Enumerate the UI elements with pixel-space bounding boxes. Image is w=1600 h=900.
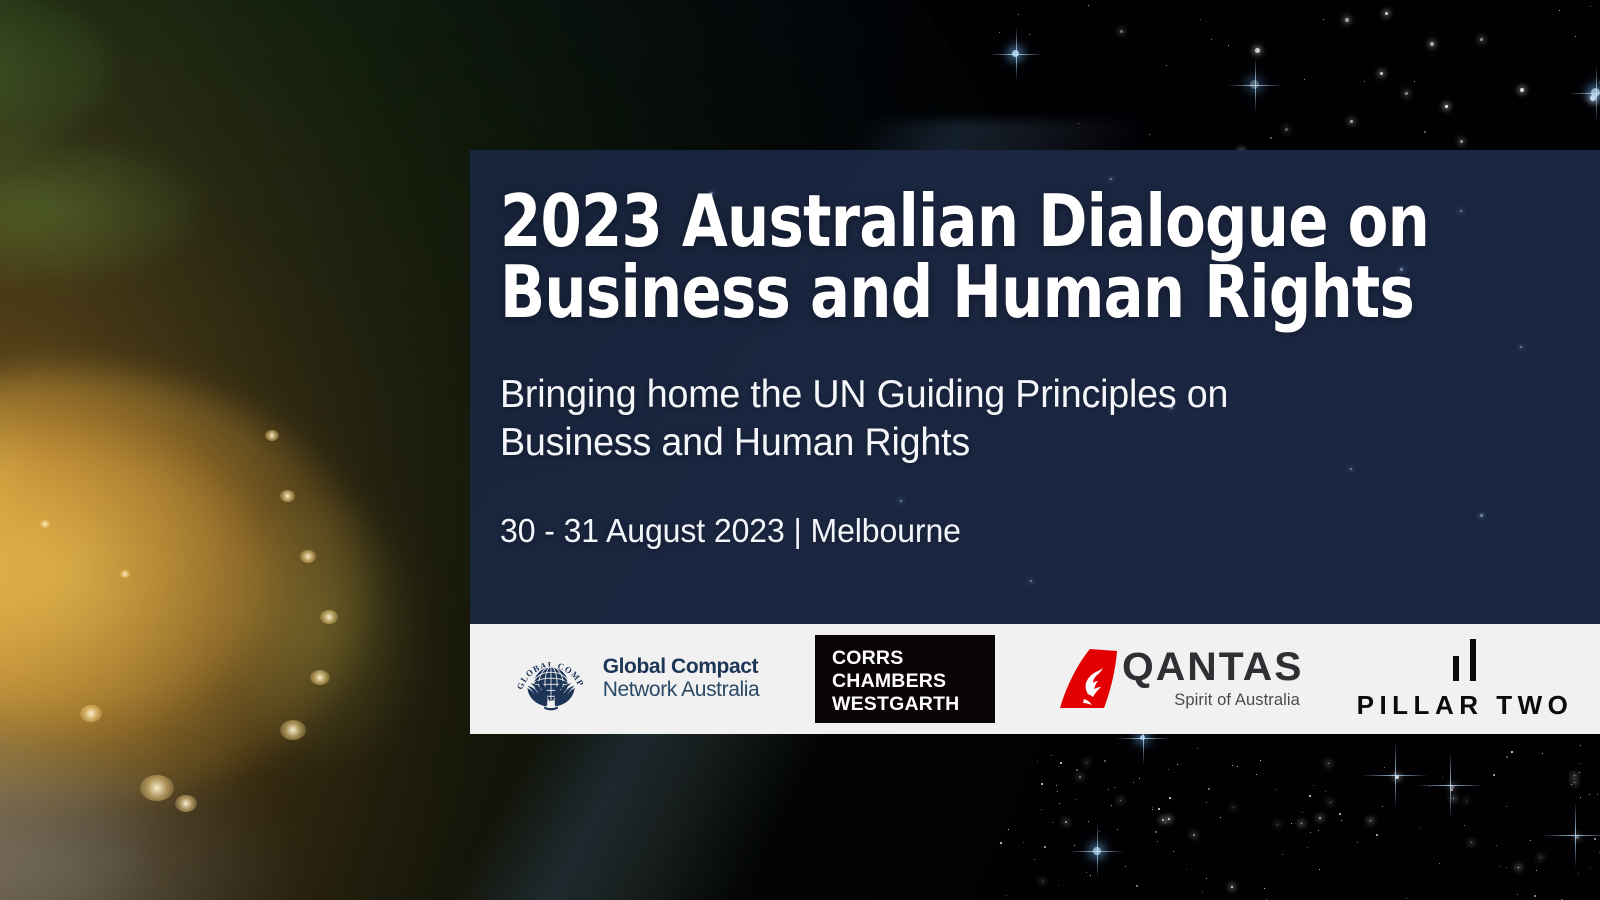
star xyxy=(25,897,27,899)
star xyxy=(1460,140,1463,143)
star xyxy=(1197,748,1198,749)
star xyxy=(67,840,68,841)
pillar-two-bars-icon xyxy=(1357,637,1574,681)
star-diffraction-spike xyxy=(1575,802,1576,868)
star-diffraction-spike xyxy=(1016,27,1017,81)
star xyxy=(850,871,851,872)
star xyxy=(156,154,158,156)
star xyxy=(1506,806,1507,807)
star xyxy=(900,41,901,42)
star xyxy=(1220,817,1221,818)
star xyxy=(1200,19,1201,20)
star xyxy=(1277,824,1278,825)
star xyxy=(1057,791,1058,792)
star xyxy=(292,795,293,796)
star xyxy=(556,755,557,756)
star xyxy=(1357,842,1358,843)
star xyxy=(334,776,335,777)
star xyxy=(874,750,875,751)
star xyxy=(1041,783,1043,785)
star xyxy=(1228,45,1229,46)
star xyxy=(1088,821,1089,822)
star xyxy=(1120,800,1121,801)
star xyxy=(1506,867,1507,868)
star xyxy=(1302,812,1303,813)
star xyxy=(999,32,1000,33)
star xyxy=(1590,868,1591,869)
star xyxy=(1319,817,1321,819)
star xyxy=(138,241,139,242)
star xyxy=(964,115,965,116)
star xyxy=(1429,786,1430,787)
pillar-two-wordmark: PILLAR TWO xyxy=(1357,690,1574,721)
star xyxy=(867,129,868,130)
star xyxy=(682,65,683,66)
star xyxy=(1559,10,1560,11)
qantas-wordmark: QANTAS xyxy=(1122,647,1303,687)
star xyxy=(275,232,277,234)
star xyxy=(1350,120,1353,123)
star xyxy=(1291,823,1292,824)
star xyxy=(1590,95,1596,101)
star xyxy=(1414,81,1415,82)
star xyxy=(1099,831,1100,832)
star xyxy=(530,114,531,115)
star xyxy=(1580,797,1581,798)
star xyxy=(1442,777,1443,778)
star xyxy=(1158,808,1160,810)
star xyxy=(121,46,122,47)
star xyxy=(1589,794,1590,795)
star xyxy=(838,43,839,44)
star xyxy=(1540,857,1541,858)
star xyxy=(1008,829,1009,830)
star xyxy=(1177,764,1178,765)
star xyxy=(648,819,649,820)
star xyxy=(607,60,608,61)
star xyxy=(517,886,518,887)
star xyxy=(1060,762,1062,764)
star xyxy=(1058,885,1059,886)
star xyxy=(1323,19,1324,20)
star xyxy=(1330,802,1331,803)
star xyxy=(1125,866,1126,867)
page-title: 2023 Australian Dialogue on Business and… xyxy=(500,186,1470,329)
event-info-panel: 2023 Australian Dialogue on Business and… xyxy=(470,150,1600,624)
star xyxy=(1074,845,1075,846)
star xyxy=(1250,80,1259,89)
star xyxy=(1018,14,1019,15)
star xyxy=(1012,50,1019,57)
star xyxy=(518,847,519,848)
star xyxy=(1534,895,1536,897)
sponsor-logo-corrs-chambers-westgarth[interactable]: CORRS CHAMBERS WESTGARTH xyxy=(780,624,1030,734)
star xyxy=(1166,65,1167,66)
star xyxy=(1364,81,1365,82)
star xyxy=(254,271,256,273)
star xyxy=(1051,755,1052,756)
star xyxy=(1029,34,1030,35)
star xyxy=(1093,847,1101,855)
un-global-compact-emblem-icon: UN GLOBAL COMPACT xyxy=(513,641,589,717)
star xyxy=(524,868,525,869)
star xyxy=(1264,888,1265,889)
star xyxy=(511,46,513,48)
sponsor-logo-pillar-two[interactable]: PILLAR TWO xyxy=(1330,624,1600,734)
star xyxy=(1114,787,1115,788)
sponsor-logo-bar: UN GLOBAL COMPACT xyxy=(470,624,1600,734)
star xyxy=(1341,820,1342,821)
star xyxy=(479,776,480,777)
star xyxy=(129,879,130,880)
star xyxy=(962,805,963,806)
star xyxy=(1155,831,1157,833)
star xyxy=(1034,859,1035,860)
star xyxy=(1518,867,1519,868)
star xyxy=(1117,829,1118,830)
star xyxy=(1006,895,1007,896)
star xyxy=(1496,845,1497,846)
star xyxy=(1136,885,1138,887)
star xyxy=(1439,863,1440,864)
star-diffraction-spike xyxy=(1596,66,1597,120)
star xyxy=(1282,854,1283,855)
star xyxy=(1173,851,1174,852)
star xyxy=(875,853,876,854)
star xyxy=(936,765,937,766)
star xyxy=(988,849,989,850)
star xyxy=(1285,128,1288,131)
star xyxy=(590,833,591,834)
star xyxy=(1232,765,1233,766)
star-diffraction-spike xyxy=(1070,851,1124,852)
star xyxy=(1120,30,1123,33)
star xyxy=(1590,6,1591,7)
star xyxy=(1108,789,1109,790)
star xyxy=(1157,841,1158,842)
star xyxy=(1310,832,1311,833)
star xyxy=(1380,72,1383,75)
star xyxy=(1233,807,1234,808)
star xyxy=(1005,793,1006,794)
star-diffraction-spike xyxy=(1362,775,1428,776)
star xyxy=(1307,847,1308,848)
star xyxy=(1520,88,1524,92)
sponsor-logo-qantas[interactable]: QANTAS Spirit of Australia xyxy=(1030,624,1330,734)
star-diffraction-spike xyxy=(1450,752,1451,818)
star xyxy=(1384,767,1385,768)
star xyxy=(571,61,572,62)
star xyxy=(998,820,999,821)
star xyxy=(1044,846,1046,848)
qantas-tagline: Spirit of Australia xyxy=(1122,691,1300,710)
star xyxy=(1231,886,1233,888)
star xyxy=(1506,756,1508,758)
star xyxy=(1168,769,1169,770)
star xyxy=(1466,800,1467,801)
star xyxy=(1076,769,1078,771)
star xyxy=(1059,803,1060,804)
star xyxy=(1193,834,1195,836)
star xyxy=(1304,79,1305,80)
star xyxy=(1471,842,1472,843)
star-diffraction-spike xyxy=(1228,85,1282,86)
star xyxy=(354,877,356,879)
star xyxy=(1319,869,1320,870)
star xyxy=(1571,784,1572,785)
star xyxy=(842,878,843,879)
star xyxy=(1037,761,1038,762)
star xyxy=(178,721,180,723)
star xyxy=(1023,842,1024,843)
star xyxy=(748,831,749,832)
event-date-location: 30 - 31 August 2023 | Melbourne xyxy=(500,512,1528,550)
star xyxy=(1430,42,1434,46)
star xyxy=(1450,785,1454,789)
star xyxy=(714,753,715,754)
star xyxy=(1086,872,1087,873)
star xyxy=(1480,38,1483,41)
star xyxy=(1345,18,1349,22)
star xyxy=(1591,88,1600,97)
star xyxy=(1328,763,1329,764)
star xyxy=(1111,805,1112,806)
star xyxy=(1419,828,1420,829)
ungc-name-secondary: Network Australia xyxy=(603,679,760,702)
star xyxy=(1499,866,1500,867)
star xyxy=(785,857,786,858)
star xyxy=(1493,774,1495,776)
star xyxy=(223,772,224,773)
star xyxy=(1339,813,1341,815)
star xyxy=(1395,775,1399,779)
star xyxy=(813,135,814,136)
star-diffraction-spike xyxy=(1395,742,1396,808)
star xyxy=(1270,137,1272,139)
star xyxy=(42,789,43,790)
star xyxy=(1530,840,1531,841)
star xyxy=(358,431,359,432)
star xyxy=(1088,5,1089,6)
star xyxy=(1578,873,1579,874)
star xyxy=(1202,892,1203,893)
star xyxy=(1579,772,1580,773)
star xyxy=(1451,789,1453,791)
star xyxy=(768,869,769,870)
event-banner: 2023 Australian Dialogue on Business and… xyxy=(0,0,1600,900)
star xyxy=(881,812,882,813)
star xyxy=(1042,881,1043,882)
star xyxy=(558,781,559,782)
star xyxy=(1574,782,1575,783)
ungc-name-primary: Global Compact xyxy=(603,656,760,679)
star xyxy=(1445,105,1448,108)
star xyxy=(580,38,581,39)
star xyxy=(1313,785,1314,786)
star xyxy=(1149,134,1150,135)
star xyxy=(718,872,720,874)
star xyxy=(317,877,318,878)
star xyxy=(1260,760,1261,761)
star xyxy=(1597,794,1598,795)
star xyxy=(1580,745,1581,746)
star-diffraction-spike xyxy=(1542,835,1600,836)
star xyxy=(1255,48,1260,53)
star xyxy=(1078,123,1079,124)
star xyxy=(1208,788,1210,790)
star xyxy=(1086,762,1087,763)
star xyxy=(354,790,356,792)
star xyxy=(1574,775,1575,776)
star xyxy=(1301,823,1302,824)
star xyxy=(777,26,778,27)
star xyxy=(1464,825,1465,826)
star xyxy=(858,739,859,740)
star xyxy=(660,23,661,24)
star xyxy=(263,187,264,188)
star xyxy=(642,146,643,147)
star xyxy=(949,868,950,869)
star xyxy=(24,740,25,741)
star xyxy=(1276,789,1277,790)
star xyxy=(1186,869,1187,870)
star xyxy=(1575,835,1579,839)
star xyxy=(519,104,521,106)
star xyxy=(532,98,533,99)
star xyxy=(611,766,612,767)
star xyxy=(1076,799,1077,800)
star xyxy=(1168,818,1170,820)
star xyxy=(1139,778,1140,779)
star xyxy=(1090,875,1091,876)
star xyxy=(826,22,827,23)
star-diffraction-spike xyxy=(989,54,1043,55)
star xyxy=(1424,131,1426,133)
sponsor-logo-un-global-compact[interactable]: UN GLOBAL COMPACT xyxy=(470,624,780,734)
star xyxy=(874,41,875,42)
star xyxy=(40,617,42,619)
star xyxy=(357,245,358,246)
star xyxy=(1376,834,1378,836)
star xyxy=(1002,834,1003,835)
star xyxy=(61,799,62,800)
star xyxy=(1511,751,1513,753)
star xyxy=(1406,898,1407,899)
star xyxy=(1165,822,1166,823)
star xyxy=(1536,870,1537,871)
star xyxy=(1325,791,1326,792)
star xyxy=(1206,878,1207,879)
star xyxy=(1579,763,1580,764)
star xyxy=(1405,92,1408,95)
star-diffraction-spike xyxy=(1097,824,1098,878)
star xyxy=(1041,809,1042,810)
corrs-wordmark: CORRS CHAMBERS WESTGARTH xyxy=(815,635,995,723)
star xyxy=(1052,822,1053,823)
star xyxy=(1594,838,1596,840)
star-diffraction-spike xyxy=(1417,785,1483,786)
star xyxy=(1140,735,1145,740)
star xyxy=(1517,894,1518,895)
star xyxy=(262,89,263,90)
star xyxy=(1211,39,1212,40)
star xyxy=(1058,766,1059,767)
star xyxy=(238,510,240,512)
star xyxy=(292,328,293,329)
star xyxy=(751,810,752,811)
star xyxy=(1079,776,1081,778)
star-diffraction-spike xyxy=(1569,93,1600,94)
star xyxy=(1309,795,1311,797)
star xyxy=(1015,748,1016,749)
star xyxy=(1318,830,1319,831)
star xyxy=(716,133,717,134)
star xyxy=(180,798,181,799)
star xyxy=(1542,753,1543,754)
star xyxy=(858,823,859,824)
star xyxy=(1206,802,1207,803)
star xyxy=(1000,842,1002,844)
star xyxy=(982,810,983,811)
star xyxy=(1256,774,1257,775)
star xyxy=(1104,760,1106,762)
star xyxy=(363,843,364,844)
star xyxy=(1237,766,1238,767)
star xyxy=(986,127,988,129)
star xyxy=(535,120,536,121)
star xyxy=(1152,807,1153,808)
star xyxy=(1152,809,1153,810)
star xyxy=(396,892,397,893)
star xyxy=(1065,821,1067,823)
event-subtitle: Bringing home the UN Guiding Principles … xyxy=(500,371,1523,469)
star xyxy=(857,883,859,885)
star xyxy=(1370,820,1371,821)
star xyxy=(12,401,13,402)
star xyxy=(865,126,866,127)
star xyxy=(680,886,681,887)
star xyxy=(1056,785,1057,786)
star xyxy=(1382,806,1383,807)
star xyxy=(1169,797,1171,799)
star xyxy=(324,865,325,866)
star xyxy=(1162,819,1164,821)
qantas-kangaroo-tail-icon xyxy=(1060,649,1126,711)
star xyxy=(759,738,760,739)
star xyxy=(1015,796,1016,797)
star-diffraction-spike xyxy=(1255,58,1256,112)
star xyxy=(1575,36,1576,37)
star xyxy=(1385,12,1388,15)
star xyxy=(1453,798,1454,799)
star-diffraction-spike xyxy=(1116,738,1170,739)
star xyxy=(1133,782,1134,783)
